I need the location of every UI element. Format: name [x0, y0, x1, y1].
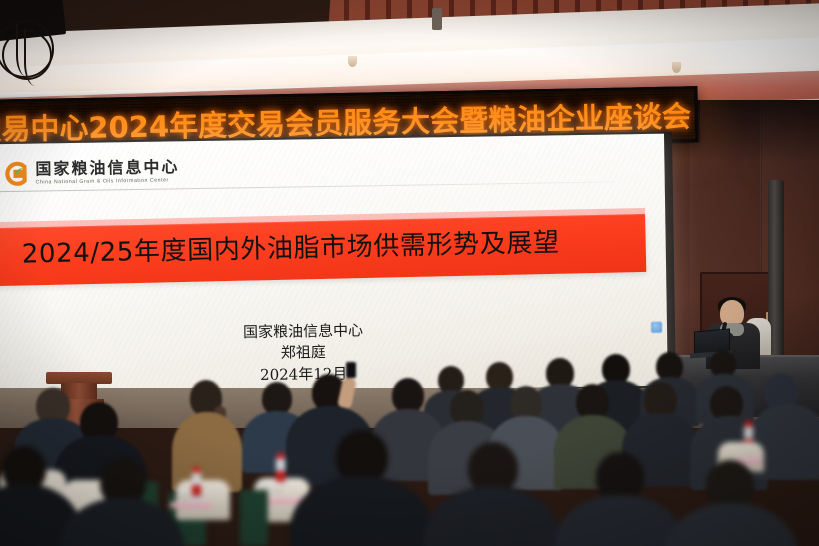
logo-text-en: China National Grain & Oils Information …	[36, 177, 180, 185]
pendant-light-icon	[348, 56, 357, 67]
logo-text-block: 国家粮油信息中心 China National Grain & Oils Inf…	[35, 159, 179, 185]
ceiling-mount-assembly	[0, 0, 76, 106]
audience-front-row	[0, 330, 819, 546]
grain-oils-logo-icon	[2, 161, 28, 187]
ceiling-fixture-icon	[432, 8, 442, 30]
pendant-light-icon	[672, 62, 681, 73]
conference-photo-scene: 汉国家粮食交易中心2024年度交易会员服务大会暨粮油企业座谈会 国家粮油信息中心…	[0, 0, 819, 546]
cable	[24, 28, 52, 86]
organization-logo: 国家粮油信息中心 China National Grain & Oils Inf…	[2, 158, 179, 187]
logo-text-cn: 国家粮油信息中心	[35, 159, 179, 177]
